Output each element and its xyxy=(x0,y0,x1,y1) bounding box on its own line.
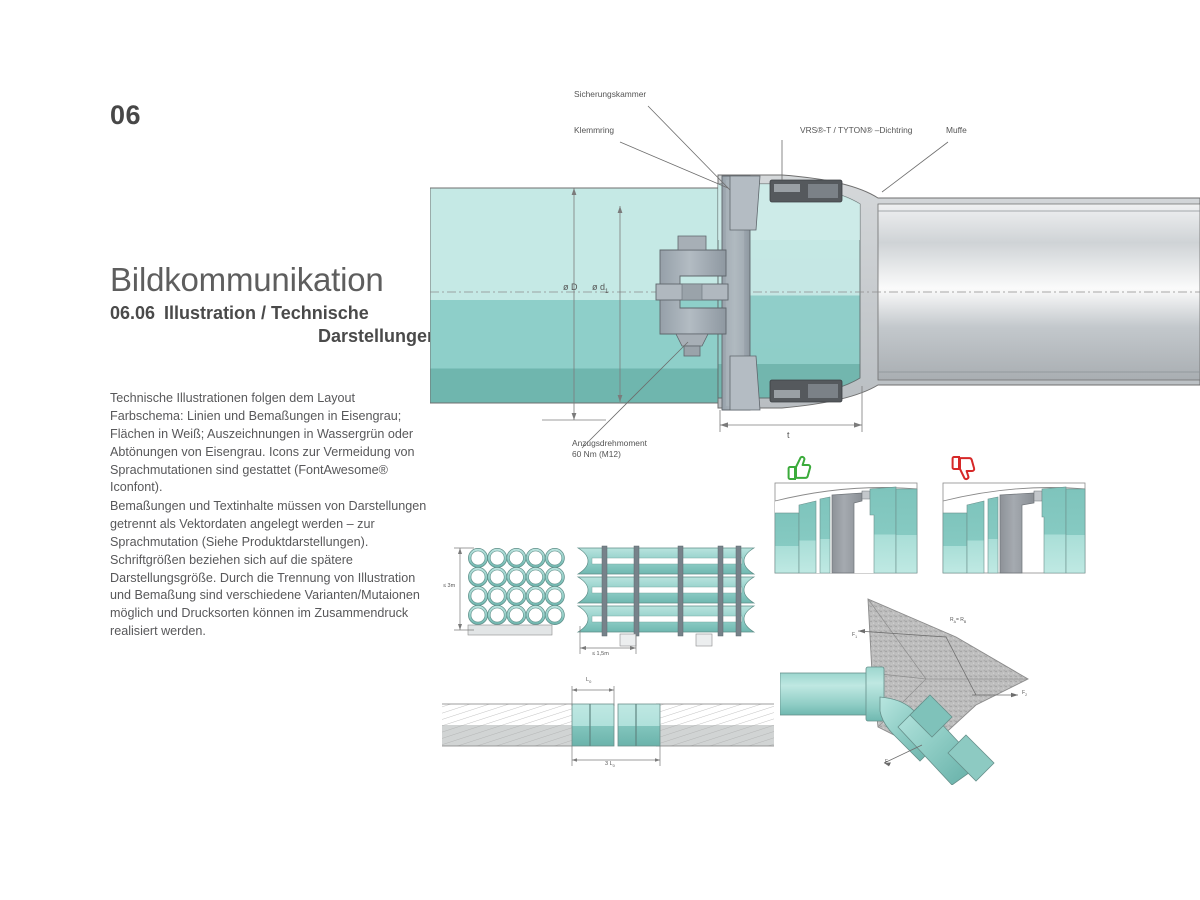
bundle-pipe-bore xyxy=(548,570,562,584)
thumbs-up-icon xyxy=(789,457,811,479)
title-block: Bildkommunikation 06.06Illustration / Te… xyxy=(110,262,440,348)
bundle-pipe-bore xyxy=(490,570,504,584)
trench-bottom-label-sub: 0 xyxy=(613,763,615,768)
bundle-pipe-bore xyxy=(471,570,485,584)
securing-chamber-seal-top xyxy=(770,180,842,202)
bundle-strap xyxy=(736,546,741,636)
trench-pipe-segments xyxy=(572,704,660,746)
bundle-pipe-bore xyxy=(548,589,562,603)
bundle-pipe-bore xyxy=(509,608,523,622)
page-title: Bildkommunikation xyxy=(110,262,440,298)
force2-sub: 2 xyxy=(1025,693,1027,697)
body-paragraph-1: Technische Illustrationen folgen dem Lay… xyxy=(110,390,432,497)
body-paragraph-2: Bemaßungen und Textinhalte müssen von Da… xyxy=(110,498,432,641)
dia-d1-main: ø d xyxy=(592,282,605,292)
force3-sub: 1 xyxy=(888,762,890,766)
comparison-figures xyxy=(770,455,1090,575)
dimension-label-depth-t: t xyxy=(787,430,790,441)
bundle-pipe-bore xyxy=(548,551,562,565)
bundle-width-label: ≤ 1,5m xyxy=(592,651,609,658)
bundle-pipe-bore xyxy=(509,551,523,565)
callout-muffe: Muffe xyxy=(946,125,967,136)
callout-sicherungskammer: Sicherungskammer xyxy=(574,89,646,100)
bundle-strap xyxy=(602,546,607,636)
bundle-pipe-bore xyxy=(529,551,543,565)
bundle-strap xyxy=(718,546,723,636)
bundle-pipe-bore xyxy=(529,570,543,584)
trench-bottom-label-main: 3 L xyxy=(605,761,613,767)
bundle-side-view xyxy=(578,546,754,646)
anzugsdrehmoment-line2: 60 Nm (M12) xyxy=(572,449,621,459)
bundle-front-view xyxy=(468,548,564,635)
bundle-pipe-bore xyxy=(490,608,504,622)
anzugsdrehmoment-line1: Anzugsdrehmoment xyxy=(572,438,647,448)
comparison-bad-panel xyxy=(943,483,1085,573)
subtitle-line-2: Darstellungen xyxy=(110,325,440,348)
dia-d1-subscript: 1 xyxy=(605,289,608,295)
pipe-bundle-figure xyxy=(440,530,780,670)
thrust-label-resultant: RA= RB xyxy=(950,617,966,624)
resultant-eq-sub: B xyxy=(964,620,966,624)
bundle-pipe-bore xyxy=(471,551,485,565)
thrust-block-figure xyxy=(780,585,1090,785)
bundle-pipe-bore xyxy=(548,608,562,622)
callout-anzugsdrehmoment: Anzugsdrehmoment 60 Nm (M12) xyxy=(572,438,647,459)
inlet-pipe xyxy=(780,667,884,721)
bundle-height-label: ≤ 3m xyxy=(443,583,455,590)
thrust-label-force-3: F1 xyxy=(885,759,890,766)
trench-top-label-sub: 0 xyxy=(589,679,591,684)
main-illustration-pipe-joint xyxy=(430,80,1200,480)
bundle-pipe-bore xyxy=(529,589,543,603)
callout-dichtring: VRS®-T / TYTON® –Dichtring xyxy=(800,125,912,136)
comparison-good-panel xyxy=(775,483,917,573)
chapter-number: 06 xyxy=(110,100,141,131)
subtitle-line-1: 06.06Illustration / Technische xyxy=(110,302,440,325)
bundle-pipe-bore xyxy=(509,570,523,584)
thrust-label-force-2: F2 xyxy=(1022,690,1027,697)
bundle-pipe-bore xyxy=(471,589,485,603)
subtitle-text: Illustration / Technische xyxy=(164,303,369,323)
subtitle-number: 06.06 xyxy=(110,303,155,323)
securing-chamber-seal-bottom xyxy=(770,380,842,402)
bundle-pipe-bore xyxy=(471,608,485,622)
bundle-pipe-bore xyxy=(509,589,523,603)
bundle-pipe-bore xyxy=(490,589,504,603)
bundle-strap xyxy=(634,546,639,636)
thrust-label-force-1: F1 xyxy=(852,632,857,639)
bundle-pipe-bore xyxy=(529,608,543,622)
bundle-strap xyxy=(678,546,683,636)
dimension-label-diameter-d1: ø d1 xyxy=(592,282,608,296)
bundle-pipe-bore xyxy=(490,551,504,565)
force1-sub: 1 xyxy=(855,635,857,639)
dimension-label-diameter-D: ø D xyxy=(563,282,578,293)
thumbs-down-icon xyxy=(953,457,975,479)
resultant-eq: = R xyxy=(956,617,964,623)
callout-klemmring: Klemmring xyxy=(574,125,614,136)
trench-bottom-label: 3 L0 xyxy=(605,761,615,768)
trench-top-label: L0 xyxy=(586,677,591,684)
